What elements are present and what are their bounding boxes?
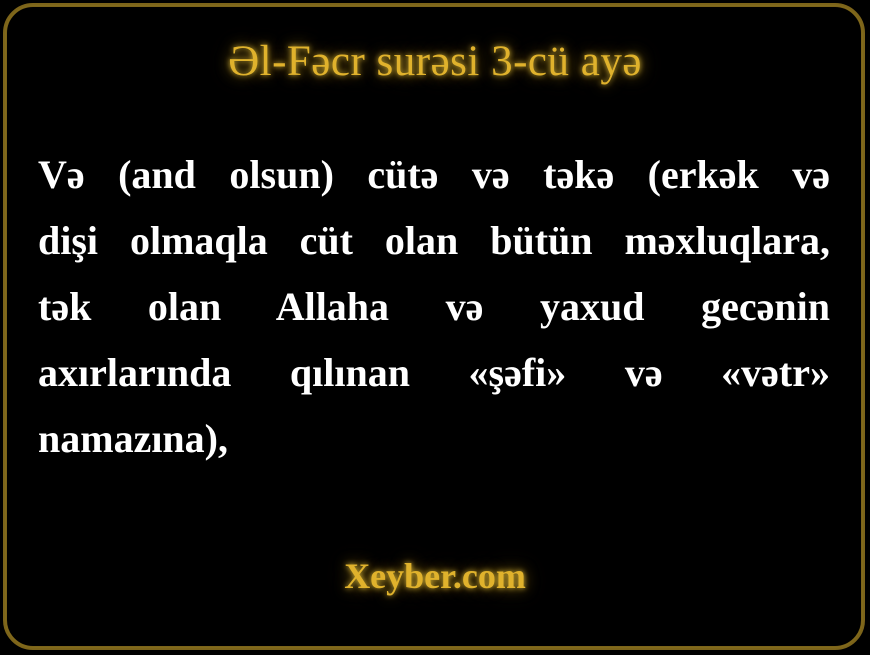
site-watermark: Xeyber.com — [0, 553, 870, 599]
verse-line: axırlarında qılınan «şəfi» və «vətr» — [38, 340, 830, 406]
verse-card: Əl-Fəcr surəsi 3-cü ayə Və (and olsun) c… — [0, 0, 870, 655]
verse-line: tək olan Allaha və yaxud gecənin — [38, 274, 830, 340]
verse-line: dişi olmaqla cüt olan bütün məxluqlara, — [38, 208, 830, 274]
verse-line: namazına), — [38, 406, 830, 472]
verse-text-block: Və (and olsun) cütə və təkə (erkək və di… — [38, 142, 830, 472]
verse-line: Və (and olsun) cütə və təkə (erkək və — [38, 142, 830, 208]
page-title: Əl-Fəcr surəsi 3-cü ayə — [0, 36, 870, 88]
